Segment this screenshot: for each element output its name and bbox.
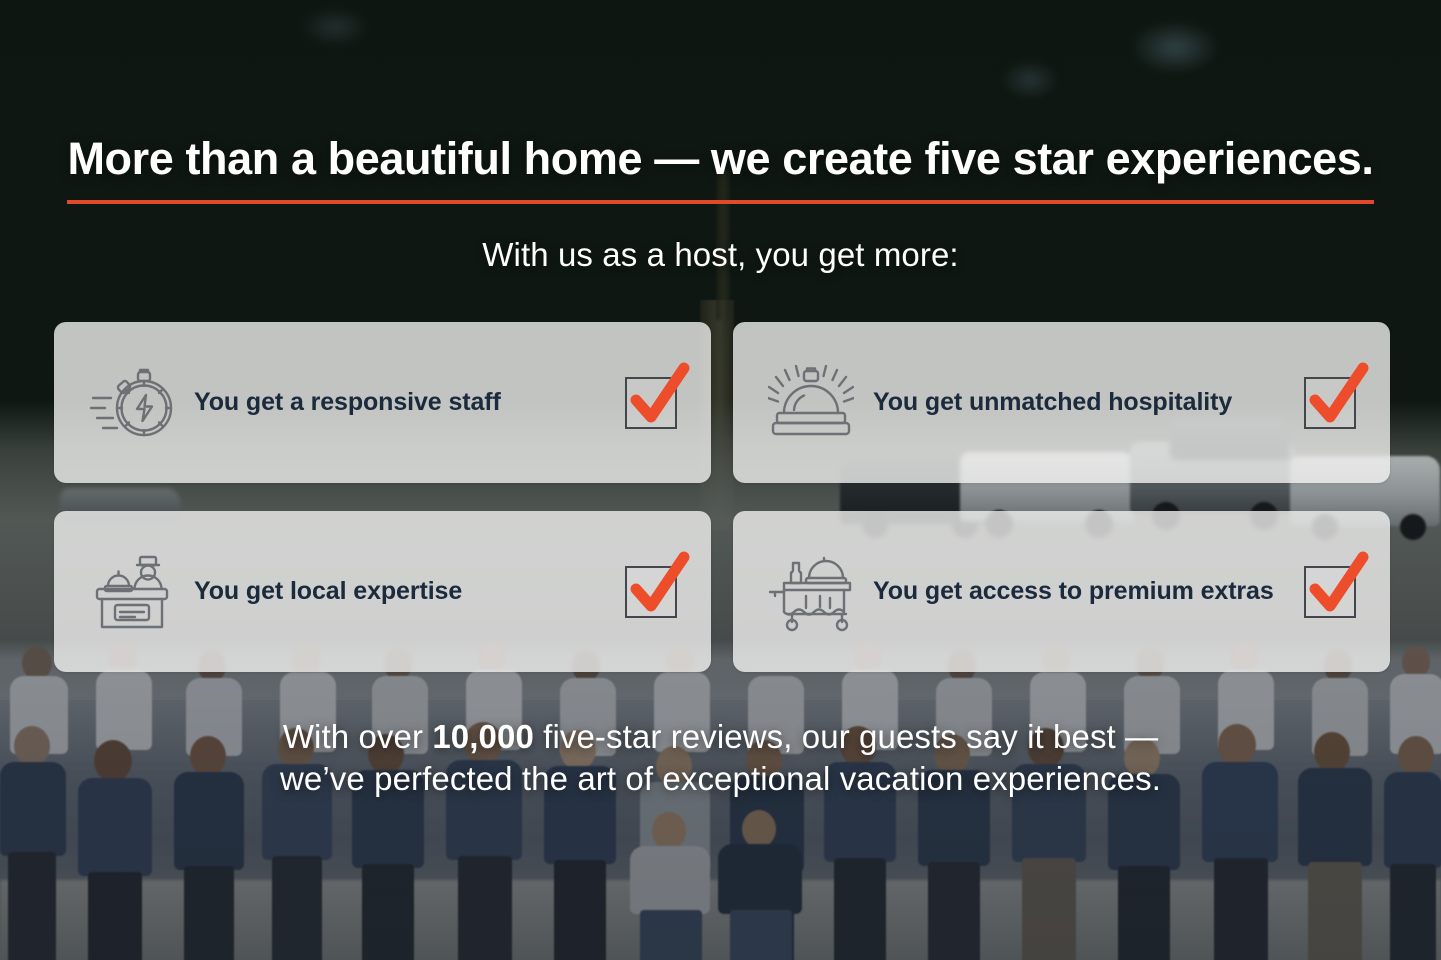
benefit-label: You get local expertise <box>180 577 625 606</box>
benefit-card-premium-extras[interactable]: You get access to premium extras <box>733 511 1390 672</box>
footer-line1-suffix: five-star reviews, our guests say it bes… <box>534 718 1158 755</box>
headline-container: More than a beautiful home — we create f… <box>0 134 1441 204</box>
subheading: With us as a host, you get more: <box>0 236 1441 274</box>
benefit-label: You get access to premium extras <box>859 577 1304 606</box>
benefits-card-grid: You get a responsive staff <box>54 322 1390 672</box>
benefit-label: You get unmatched hospitality <box>859 388 1304 417</box>
benefit-checkbox[interactable] <box>1304 566 1356 618</box>
footer-line1-prefix: With over <box>283 718 433 755</box>
footer-line2: we’ve perfected the art of exceptional v… <box>280 760 1161 797</box>
benefit-checkbox[interactable] <box>1304 377 1356 429</box>
benefit-label: You get a responsive staff <box>180 388 625 417</box>
benefit-card-responsive-staff[interactable]: You get a responsive staff <box>54 322 711 483</box>
service-bell-icon <box>763 361 859 445</box>
stopwatch-speed-icon <box>84 361 180 445</box>
room-service-cart-icon <box>763 550 859 634</box>
reception-desk-icon <box>84 550 180 634</box>
benefit-card-unmatched-hospitality[interactable]: You get unmatched hospitality <box>733 322 1390 483</box>
benefit-checkbox[interactable] <box>625 377 677 429</box>
benefit-card-local-expertise[interactable]: You get local expertise <box>54 511 711 672</box>
page-title: More than a beautiful home — we create f… <box>67 134 1373 204</box>
social-proof-text: With over 10,000 five-star reviews, our … <box>0 716 1441 800</box>
footer-review-count: 10,000 <box>432 718 534 755</box>
hero-section: More than a beautiful home — we create f… <box>0 0 1441 960</box>
benefit-checkbox[interactable] <box>625 566 677 618</box>
